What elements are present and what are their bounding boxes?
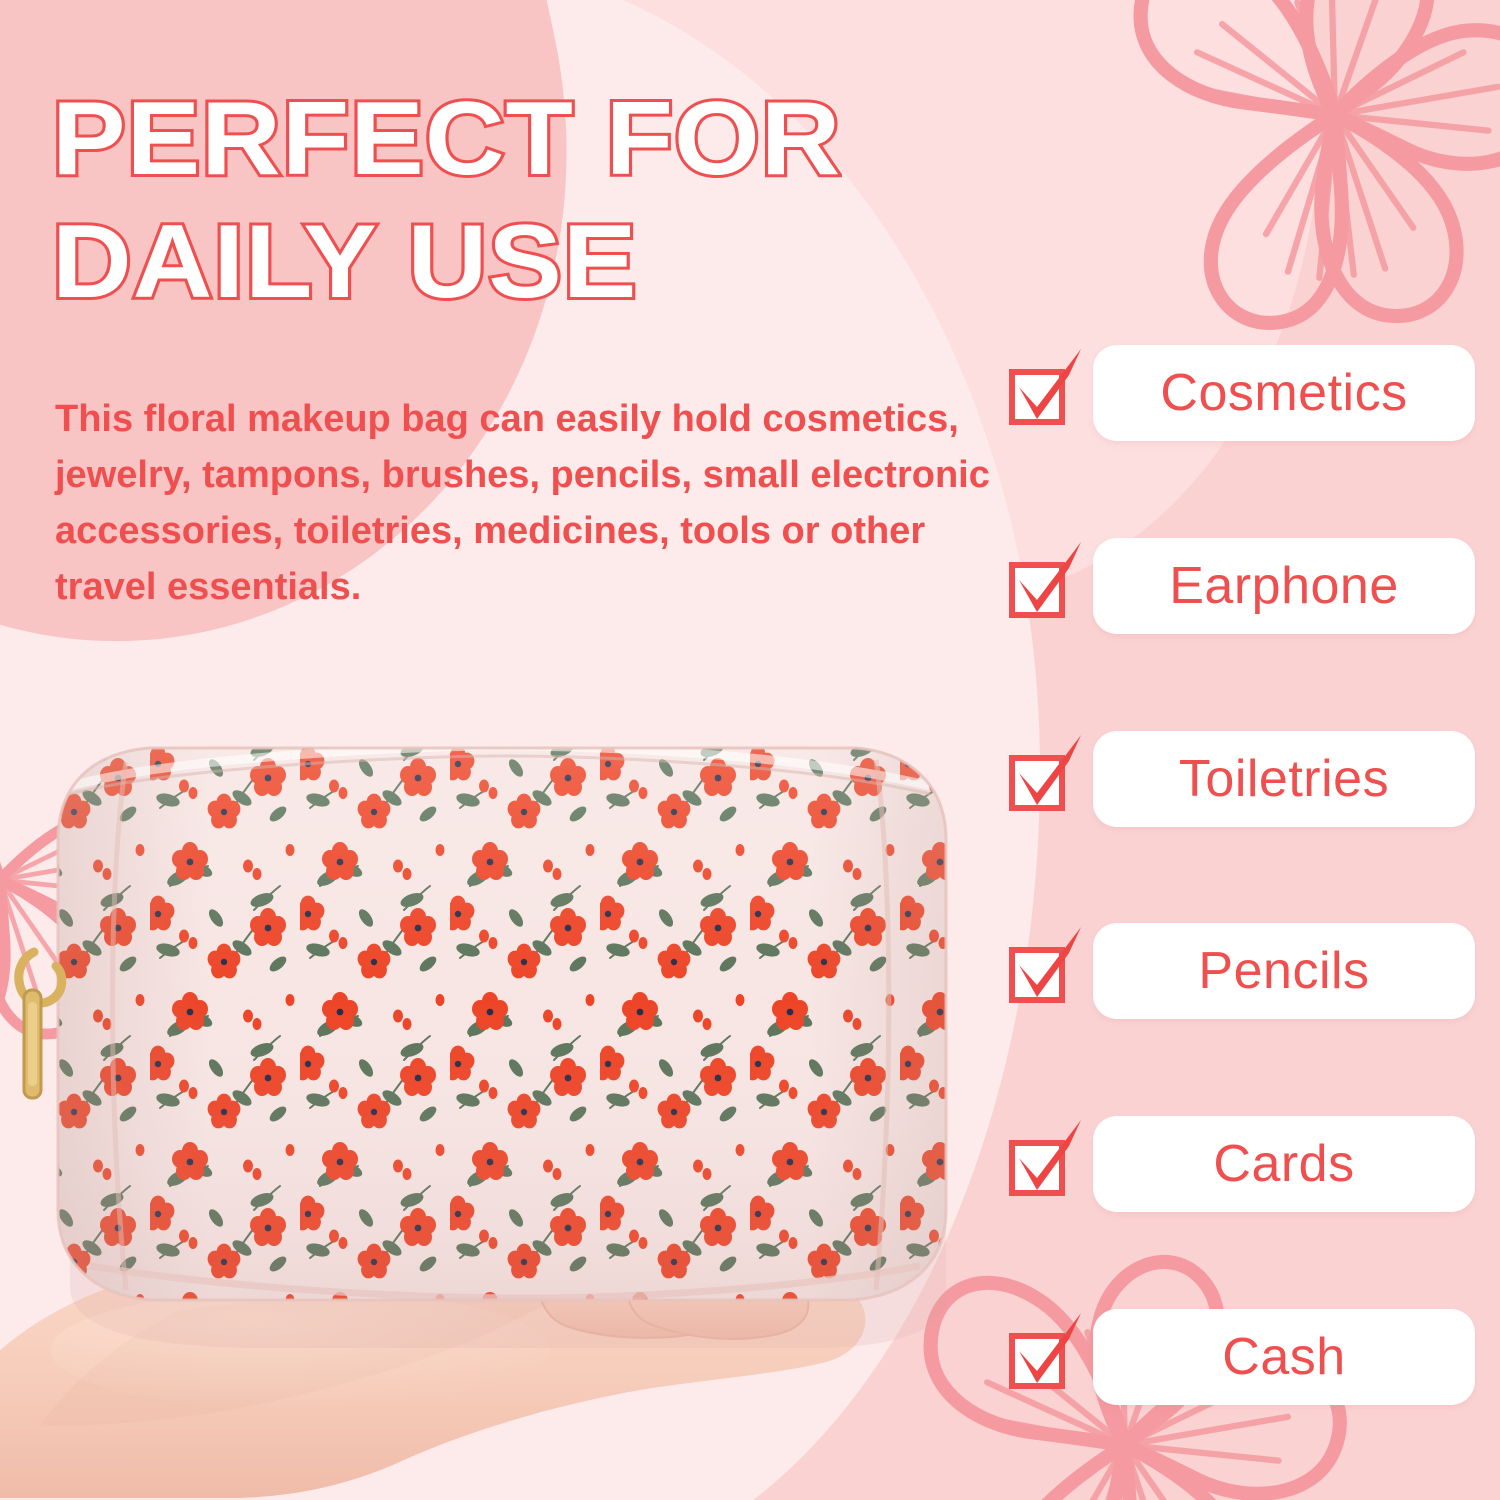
headline-line-2: DAILY USE xyxy=(52,201,1101,324)
checkbox-checked-icon[interactable] xyxy=(1005,552,1071,618)
checklist-pill[interactable]: Cash xyxy=(1093,1309,1475,1405)
checklist-item[interactable]: Pencils xyxy=(1005,923,1475,1019)
checkbox-checked-icon[interactable] xyxy=(1005,937,1071,1003)
checklist-pill[interactable]: Cards xyxy=(1093,1116,1475,1212)
marketing-image-canvas: PERFECT FOR DAILY USE This floral makeup… xyxy=(0,0,1500,1500)
checklist-item[interactable]: Cards xyxy=(1005,1116,1475,1212)
checklist-pill[interactable]: Earphone xyxy=(1093,538,1475,634)
checklist-label: Cash xyxy=(1222,1327,1345,1387)
checklist-item[interactable]: Cash xyxy=(1005,1309,1475,1405)
product-photo-makeup-bag xyxy=(0,690,1000,1500)
checklist-item[interactable]: Earphone xyxy=(1005,538,1475,634)
description-text: This floral makeup bag can easily hold c… xyxy=(55,392,1005,615)
feature-checklist: Cosmetics Earphone Toiletries xyxy=(1005,345,1475,1405)
checklist-item[interactable]: Cosmetics xyxy=(1005,345,1475,441)
zipper-pull-icon xyxy=(19,952,62,1098)
checklist-pill[interactable]: Cosmetics xyxy=(1093,345,1475,441)
bag-body xyxy=(40,730,980,1330)
checklist-label: Cards xyxy=(1213,1134,1354,1194)
page-title: PERFECT FOR DAILY USE xyxy=(52,78,1101,323)
checklist-label: Pencils xyxy=(1198,941,1369,1001)
checkbox-checked-icon[interactable] xyxy=(1005,1323,1071,1389)
checklist-pill[interactable]: Toiletries xyxy=(1093,731,1475,827)
checklist-label: Cosmetics xyxy=(1160,363,1407,423)
checklist-pill[interactable]: Pencils xyxy=(1093,923,1475,1019)
checkbox-checked-icon[interactable] xyxy=(1005,1130,1071,1196)
checklist-label: Toiletries xyxy=(1179,749,1389,809)
checklist-label: Earphone xyxy=(1169,556,1399,616)
checkbox-checked-icon[interactable] xyxy=(1005,745,1071,811)
checklist-item[interactable]: Toiletries xyxy=(1005,731,1475,827)
headline-line-1: PERFECT FOR xyxy=(52,78,1101,201)
checkbox-checked-icon[interactable] xyxy=(1005,359,1071,425)
